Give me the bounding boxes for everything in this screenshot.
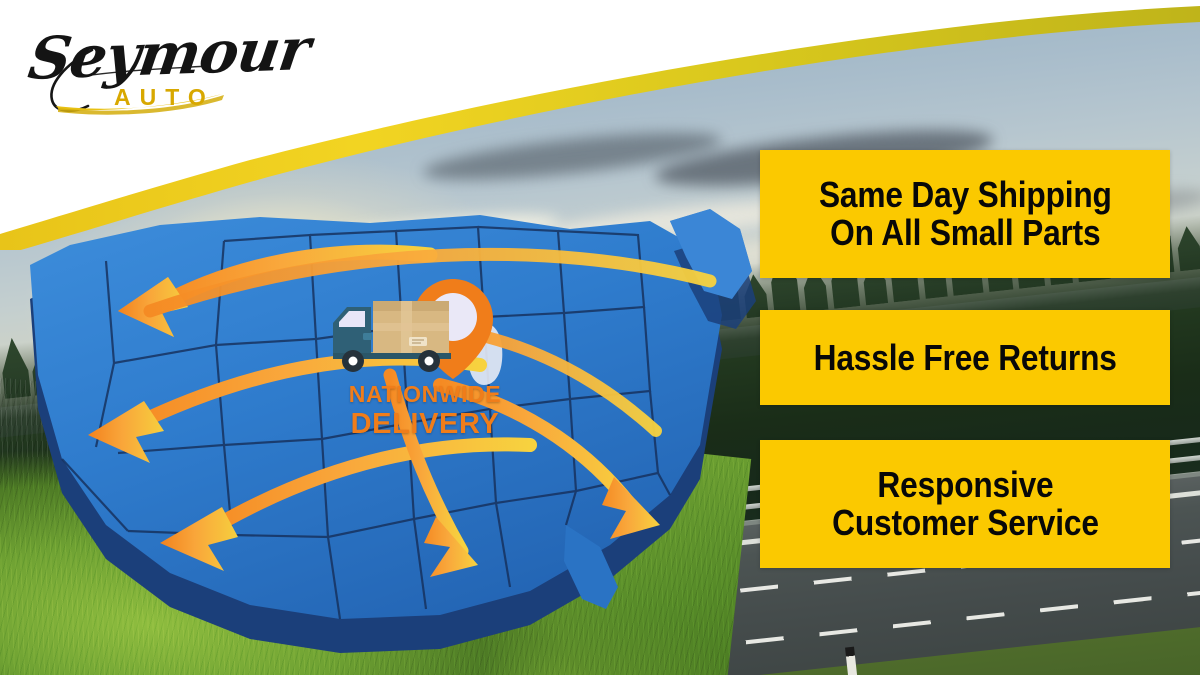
callout-2-line-1: Hassle Free Returns xyxy=(813,339,1116,377)
brand-logo[interactable]: Seymour AUTO xyxy=(26,14,256,124)
callout-responsive-customer-service[interactable]: Responsive Customer Service xyxy=(760,440,1170,568)
callout-1-line-2: On All Small Parts xyxy=(819,214,1112,252)
promo-banner: Seymour AUTO xyxy=(0,0,1200,675)
callout-3-line-1: Responsive xyxy=(832,466,1099,504)
logo-subtitle: AUTO xyxy=(114,84,215,111)
nd-line-1: NATIONWIDE xyxy=(325,383,525,406)
truck-and-pin-artwork xyxy=(325,275,525,385)
logo-wordmark: Seymour xyxy=(24,15,313,93)
delivery-truck-icon xyxy=(333,301,451,372)
nd-line-2: DELIVERY xyxy=(325,410,525,439)
nationwide-delivery-badge: NATIONWIDE DELIVERY xyxy=(325,275,525,455)
nationwide-delivery-label: NATIONWIDE DELIVERY xyxy=(325,383,525,439)
callout-1-line-1: Same Day Shipping xyxy=(819,176,1112,214)
callout-same-day-shipping[interactable]: Same Day Shipping On All Small Parts xyxy=(760,150,1170,278)
callout-hassle-free-returns[interactable]: Hassle Free Returns xyxy=(760,310,1170,405)
callout-3-line-2: Customer Service xyxy=(832,504,1099,542)
